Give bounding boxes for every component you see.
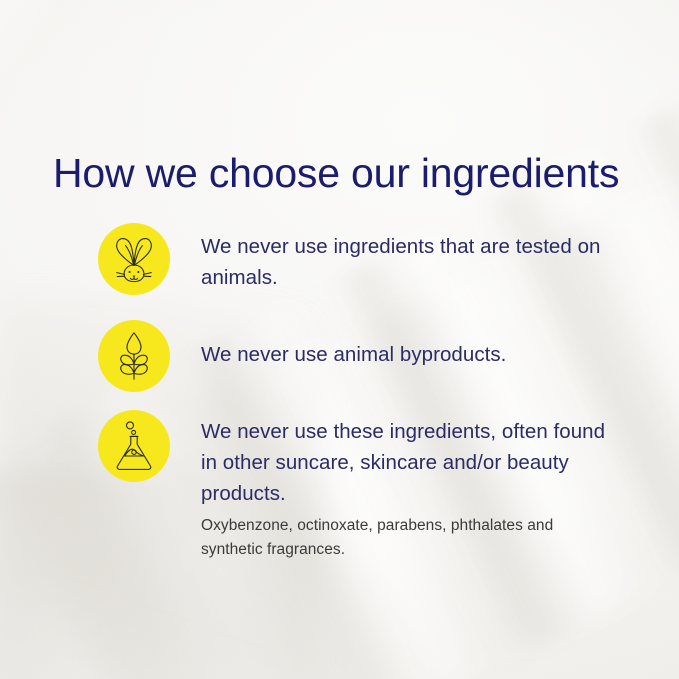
claim-note: Oxybenzone, octinoxate, parabens, phthal… bbox=[201, 514, 601, 562]
claim-icon-badge bbox=[98, 223, 170, 295]
claim-text: We never use ingredients that are tested… bbox=[201, 231, 613, 293]
claims-list: We never use ingredients that are tested… bbox=[0, 205, 679, 494]
erlenmeyer-flask-icon bbox=[112, 420, 156, 472]
claim-icon-badge bbox=[98, 320, 170, 392]
ingredient-claims-page: How we choose our ingredients bbox=[0, 0, 679, 679]
bunny-heart-ears-icon bbox=[111, 234, 157, 284]
page-title: How we choose our ingredients bbox=[53, 148, 619, 198]
list-item: We never use these ingredients, often fo… bbox=[0, 402, 679, 494]
claim-icon-badge bbox=[98, 410, 170, 482]
leaf-sprout-icon bbox=[113, 331, 155, 381]
claim-text: We never use animal byproducts. bbox=[201, 339, 613, 370]
list-item: We never use ingredients that are tested… bbox=[0, 205, 679, 305]
background-shade-left bbox=[0, 470, 230, 679]
list-item: We never use animal byproducts. bbox=[0, 305, 679, 402]
claim-text: We never use these ingredients, often fo… bbox=[201, 416, 613, 509]
